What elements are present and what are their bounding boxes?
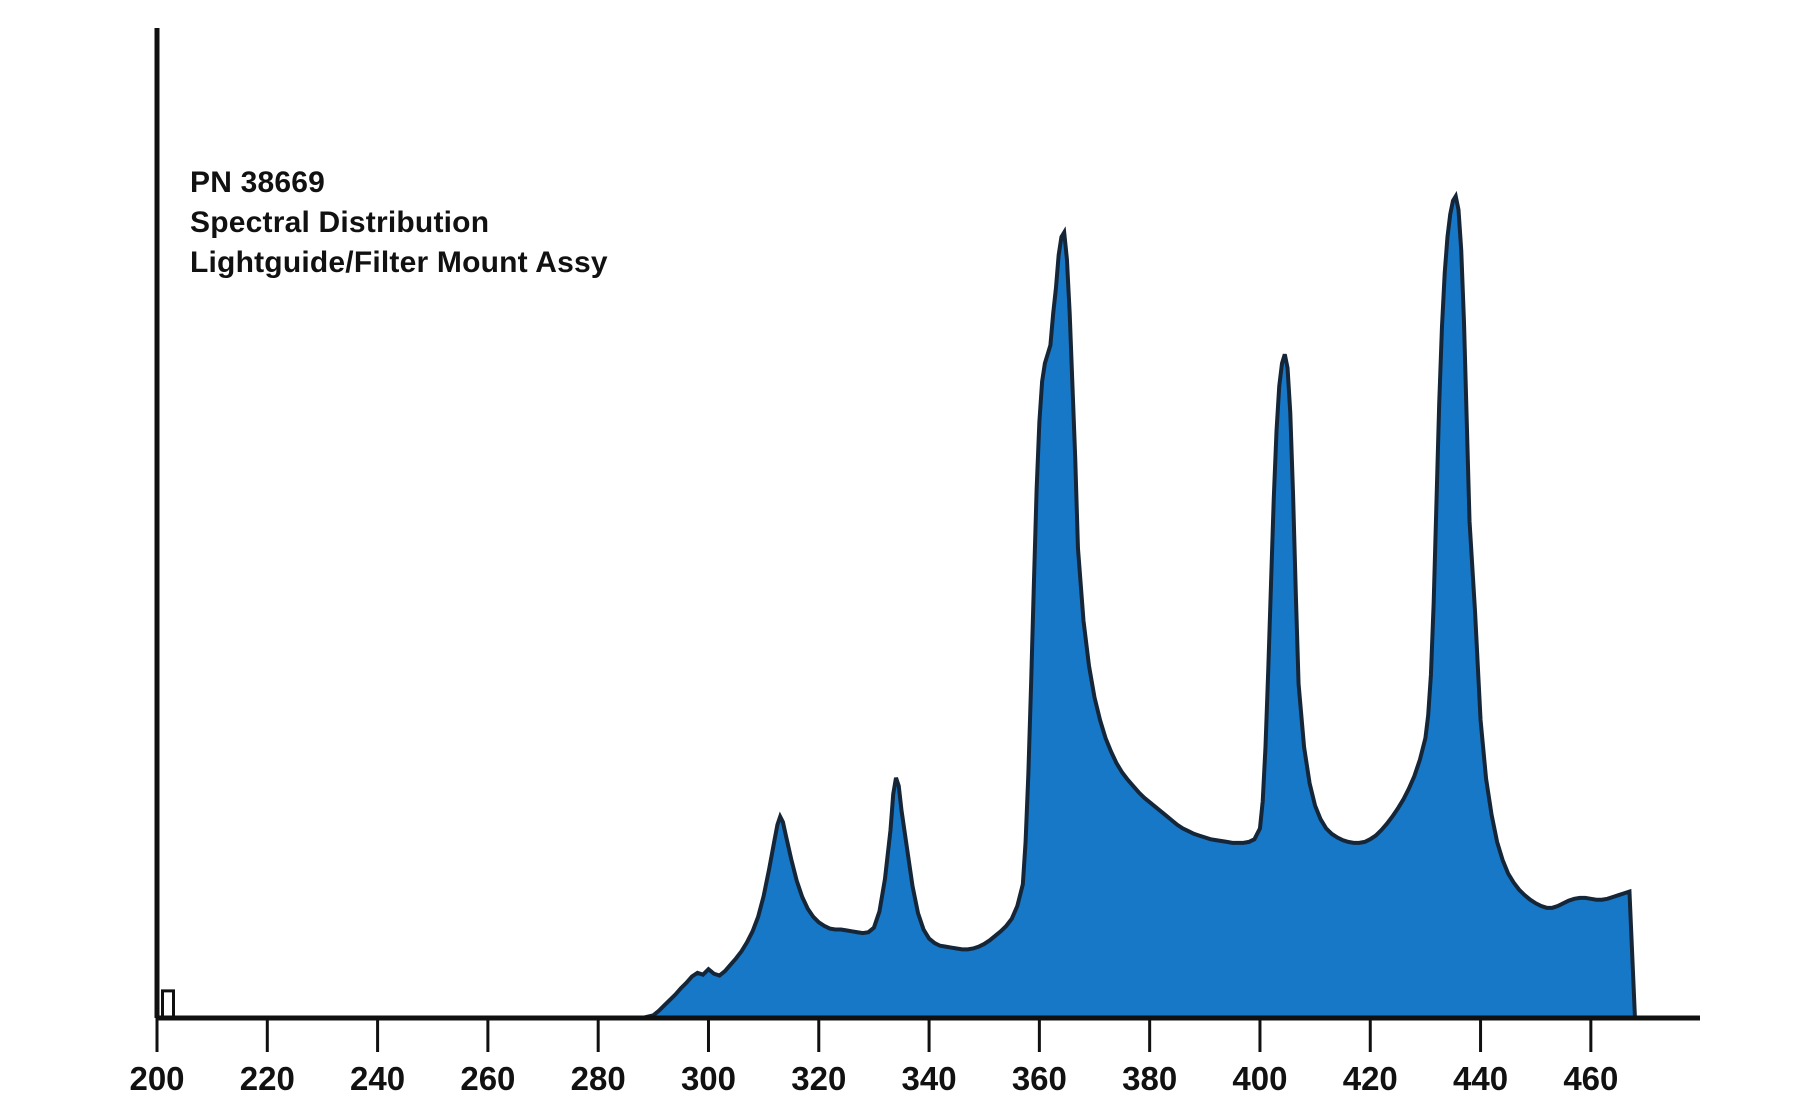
x-tick-label: 260 [460, 1060, 515, 1097]
annotation-line-assembly: Lightguide/Filter Mount Assy [190, 246, 608, 279]
x-tick-label: 200 [129, 1060, 184, 1097]
x-tick-label: 400 [1232, 1060, 1287, 1097]
x-tick-label: 360 [1012, 1060, 1067, 1097]
x-tick-label: 380 [1122, 1060, 1177, 1097]
x-tick-label: 240 [350, 1060, 405, 1097]
x-tick-label: 280 [571, 1060, 626, 1097]
x-tick-label: 440 [1453, 1060, 1508, 1097]
annotation-line-part-number: PN 38669 [190, 166, 325, 199]
x-tick-label: 220 [240, 1060, 295, 1097]
annotation-line-title: Spectral Distribution [190, 206, 489, 239]
x-tick-label: 340 [902, 1060, 957, 1097]
x-tick-label: 320 [791, 1060, 846, 1097]
spectral-chart-figure: 2002202402602803003203403603804004204404… [0, 0, 1800, 1100]
spectrum-plot-svg: 2002202402602803003203403603804004204404… [0, 0, 1800, 1100]
x-tick-label: 420 [1343, 1060, 1398, 1097]
x-tick-label: 300 [681, 1060, 736, 1097]
x-tick-label: 460 [1563, 1060, 1618, 1097]
